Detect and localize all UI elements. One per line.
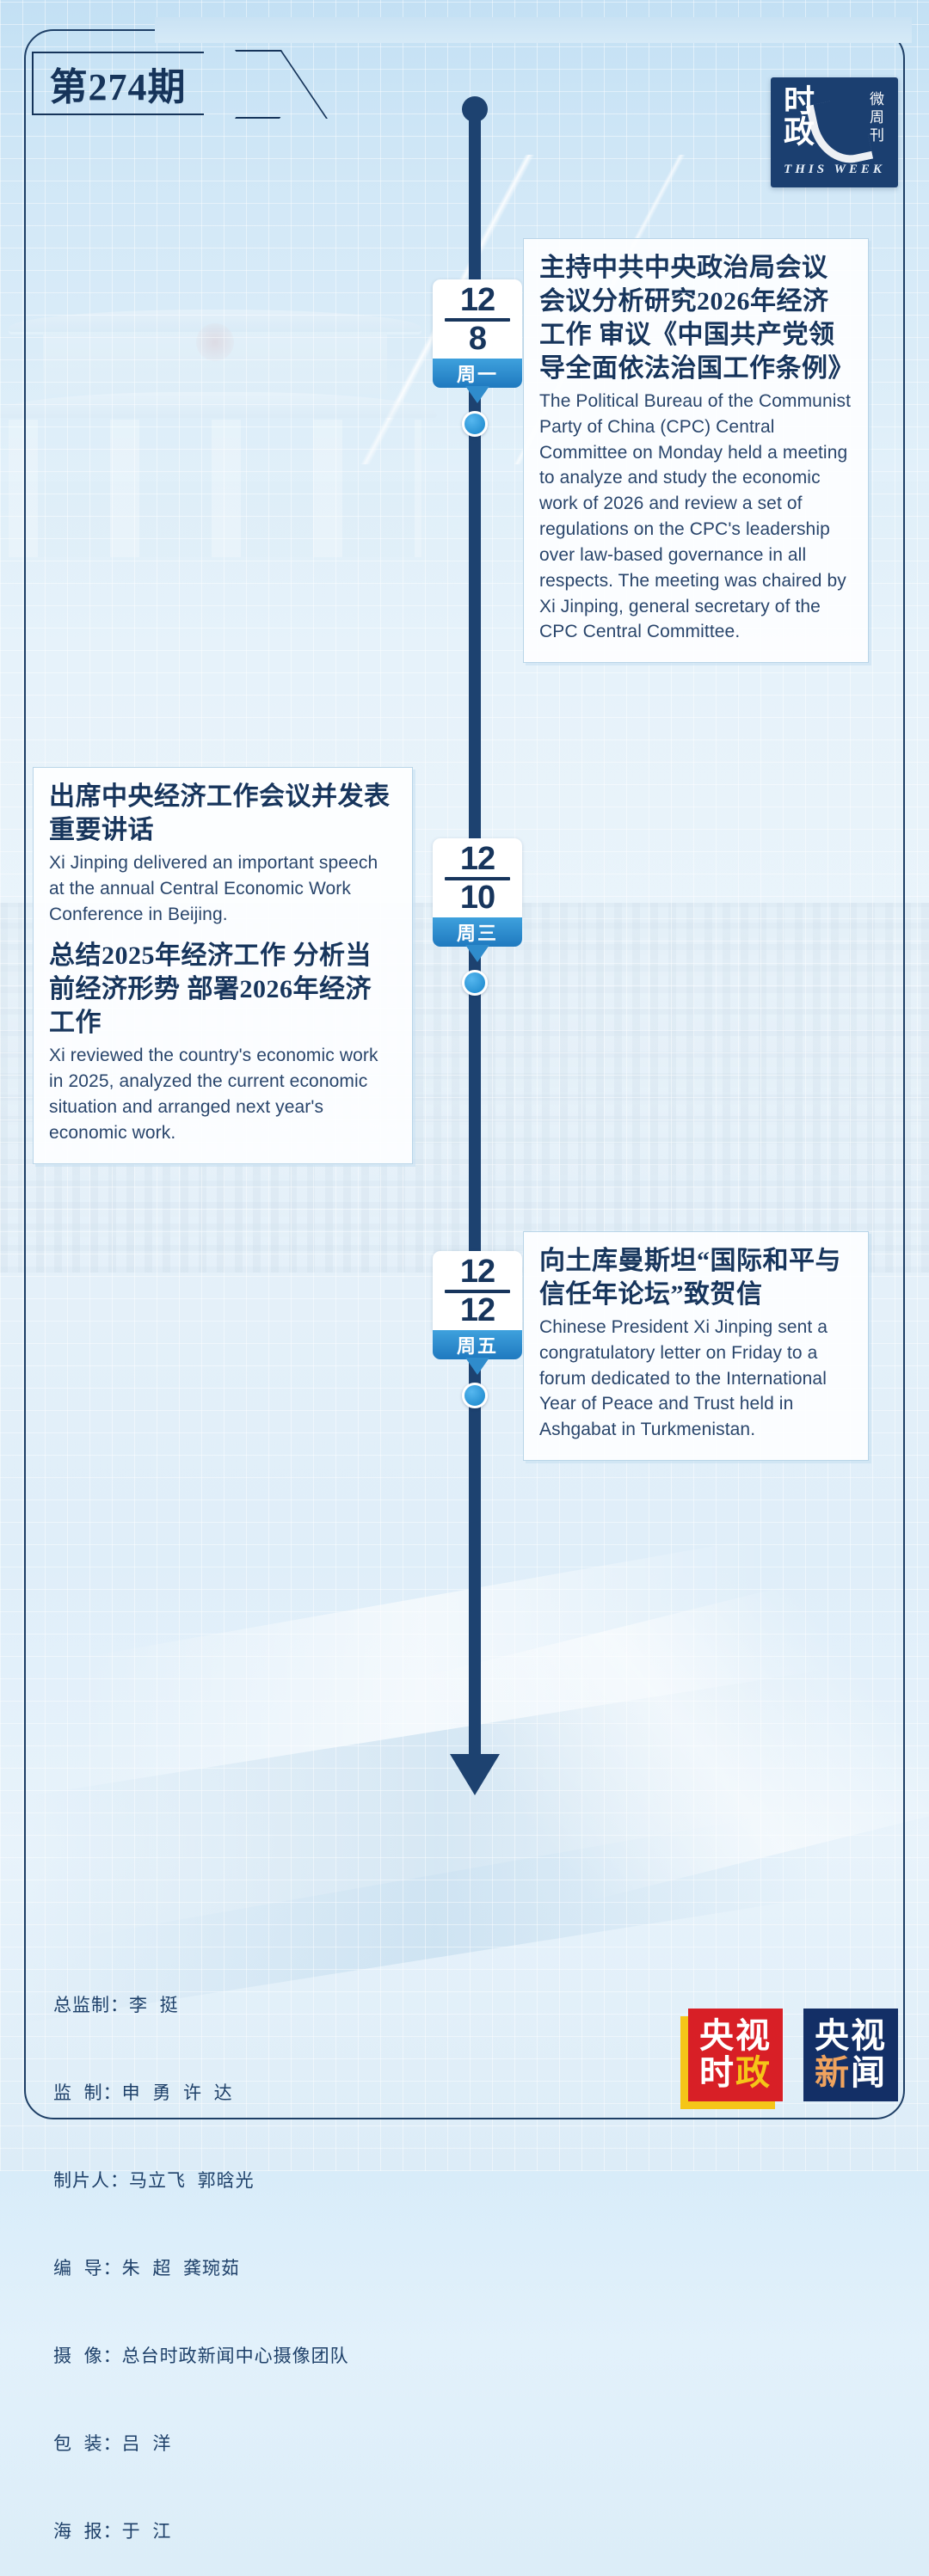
- date-month: 12: [433, 843, 522, 874]
- event-card-1210[interactable]: 出席中央经济工作会议并发表重要讲话 Xi Jinping delivered a…: [33, 767, 413, 1164]
- logo-plate: 央视 新闻: [803, 2009, 898, 2101]
- date-day: 12: [433, 1294, 522, 1327]
- event-body-en-1: Xi Jinping delivered an important speech…: [49, 850, 397, 927]
- event-card-1208[interactable]: 主持中共中央政治局会议 会议分析研究2026年经济工作 审议《中国共产党领导全面…: [523, 238, 869, 663]
- logo-line-1: 央视: [815, 2018, 887, 2055]
- date-marker-1208[interactable]: 12 8 周一: [433, 279, 522, 388]
- date-weekday: 周五: [433, 1330, 522, 1359]
- temple-colonnade: [9, 420, 421, 557]
- credit-line: 包 装：吕 洋: [53, 2430, 349, 2459]
- event-title-cn-1: 出席中央经济工作会议并发表重要讲话: [49, 780, 397, 847]
- date-day: 8: [433, 322, 522, 355]
- temple-lower-roof: [0, 392, 437, 418]
- program-logo-subtitle: 微周刊: [864, 91, 886, 155]
- event-body-en-2: Xi reviewed the country's economic work …: [49, 1043, 397, 1145]
- event-body-en: The Political Bureau of the Communist Pa…: [539, 389, 852, 645]
- timeline-arrow-icon: [450, 1754, 500, 1795]
- date-marker-1212[interactable]: 12 12 周五: [433, 1251, 522, 1359]
- date-month: 12: [433, 1256, 522, 1287]
- timeline-node-1208[interactable]: [462, 411, 488, 437]
- cctv-xinwen-logo: 央视 新闻: [803, 2009, 898, 2101]
- logo-line-1: 央视: [699, 2018, 772, 2055]
- date-pointer-icon: [465, 1358, 489, 1375]
- cctv-shizheng-logo: 央视 时政: [688, 2009, 783, 2101]
- issue-number-badge: 第274期: [32, 52, 204, 115]
- logo-line-2: 时政: [699, 2055, 772, 2092]
- logo-char-a: 新: [815, 2053, 851, 2092]
- logo-line-2: 新闻: [815, 2055, 887, 2092]
- background-temple-watermark: [0, 284, 464, 645]
- background-swoosh-accent: [348, 1545, 929, 1945]
- credit-line: 摄 像：总台时政新闻中心摄像团队: [53, 2342, 349, 2371]
- date-day: 10: [433, 881, 522, 914]
- event-card-1212[interactable]: 向土库曼斯坦“国际和平与信任年论坛”致贺信 Chinese President …: [523, 1231, 869, 1461]
- credit-line: 编 导：朱 超 龚琬茹: [53, 2254, 349, 2284]
- credits-block: 总监制：李 挺 监 制：申 勇 许 达 制片人：马立飞 郭晗光 编 导：朱 超 …: [53, 1933, 349, 2576]
- credit-line: 海 报：于 江: [53, 2518, 349, 2547]
- program-logo-swoosh-icon: [806, 95, 873, 170]
- program-logo: 时政 微周刊 THIS WEEK: [771, 77, 898, 187]
- background-swoosh-light: [0, 1481, 929, 1976]
- date-card: 12 8: [433, 279, 522, 359]
- program-logo-cn-title: 时政: [781, 84, 812, 153]
- credit-line: 监 制：申 勇 许 达: [53, 2079, 349, 2108]
- event-title-cn: 向土库曼斯坦“国际和平与信任年论坛”致贺信: [539, 1244, 852, 1311]
- date-pointer-icon: [465, 945, 489, 962]
- logo-char-b: 政: [735, 2053, 772, 2092]
- date-card: 12 10: [433, 838, 522, 917]
- timeline-node-1210[interactable]: [462, 970, 488, 996]
- frame-top-gap: [155, 17, 912, 43]
- date-weekday: 周一: [433, 359, 522, 388]
- logo-char-b: 闻: [851, 2053, 887, 2092]
- program-logo-en-title: THIS WEEK: [771, 163, 898, 177]
- issue-number-label: 第274期: [32, 52, 204, 115]
- logo-plate: 央视 时政: [688, 2009, 783, 2101]
- date-weekday: 周三: [433, 917, 522, 947]
- date-month: 12: [433, 285, 522, 316]
- date-pointer-icon: [465, 386, 489, 403]
- event-body-en: Chinese President Xi Jinping sent a cong…: [539, 1315, 852, 1443]
- footer-logos: 央视 时政 央视 新闻: [688, 2009, 898, 2101]
- date-marker-1210[interactable]: 12 10 周三: [433, 838, 522, 947]
- credit-line: 制片人：马立飞 郭晗光: [53, 2167, 349, 2196]
- logo-char-a: 时: [699, 2053, 735, 2092]
- event-title-cn-2: 总结2025年经济工作 分析当前经济形势 部署2026年经济工作: [49, 939, 397, 1040]
- event-title-cn: 主持中共中央政治局会议 会议分析研究2026年经济工作 审议《中国共产党领导全面…: [539, 251, 852, 385]
- timeline-node-1212[interactable]: [462, 1383, 488, 1408]
- credit-line: 总监制：李 挺: [53, 1991, 349, 2021]
- date-card: 12 12: [433, 1251, 522, 1330]
- national-emblem-icon: [196, 323, 234, 361]
